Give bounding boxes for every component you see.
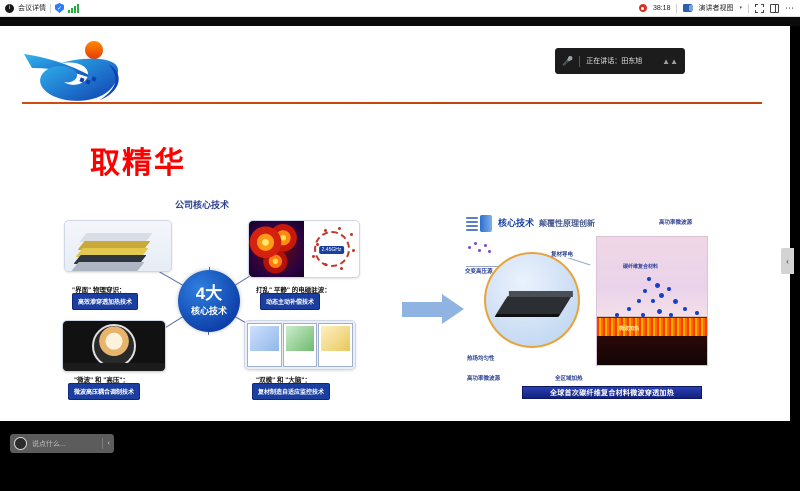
left-diagram-heading: 公司核心技术: [175, 198, 229, 211]
thumbnail-monitor-screens: [244, 320, 356, 370]
divider: [50, 4, 51, 13]
microphone-muted-icon: 🎤: [562, 56, 573, 67]
topbar-shadow-band: [0, 17, 800, 26]
left-diagram: 公司核心技术 4大 核心技术 "界面" 物理穿识： 高效渗穿透加热技术: [60, 198, 390, 413]
divider: [102, 438, 103, 449]
achievement-banner: 全球首次碳纤维复合材料微波穿透加热: [522, 386, 702, 399]
view-mode-label[interactable]: 演讲者视图: [698, 3, 733, 13]
thumbnail-chamber-photo: [62, 320, 166, 372]
recording-dot-icon[interactable]: [639, 4, 647, 12]
window-background: [0, 421, 800, 491]
audio-waveform-icon: ▲▲: [662, 57, 678, 66]
node-button-4[interactable]: 复材制造自适应监控技术: [252, 383, 330, 400]
divider: [748, 4, 749, 13]
more-options-icon[interactable]: ⋯: [785, 3, 794, 14]
collapse-chat-icon[interactable]: ‹: [108, 440, 110, 447]
molecule-icon: [468, 242, 490, 254]
right-label-3: 热场均匀性: [466, 354, 496, 362]
chat-input-bar[interactable]: 说点什么... ‹: [10, 434, 114, 453]
divider: [676, 4, 677, 13]
chat-placeholder[interactable]: 说点什么...: [32, 439, 97, 449]
server-stack-icon: [466, 214, 496, 234]
meeting-info-label[interactable]: 会议详情: [18, 3, 46, 13]
right-label-1: 交变高压源: [464, 267, 494, 275]
signal-bars-icon: [68, 4, 79, 13]
panel-label-material: 碳纤维复合材料: [623, 263, 658, 270]
node-button-2[interactable]: 动态主动补偿技术: [260, 293, 320, 310]
presentation-slide[interactable]: 取精华 公司核心技术 4大 核心技术 "界面" 物理穿识： 高效渗穿透加热技术: [10, 26, 790, 421]
heat-wave-band: [597, 318, 707, 336]
meeting-timer: 38:18: [653, 5, 671, 12]
right-diagram-heading: 核心技术: [498, 216, 534, 229]
right-label-5: 全区域加热: [554, 374, 584, 382]
flow-arrow-icon: [402, 294, 464, 324]
heating-visualization-panel: 碳纤维复合材料 微波加热: [596, 236, 708, 366]
previous-slide-button[interactable]: ‹: [781, 248, 794, 274]
company-swoosh-logo: [22, 34, 142, 106]
right-diagram-subheading: 颠覆性原理创新: [539, 218, 595, 229]
composite-slab: [496, 296, 571, 314]
right-label-source: 高功率微波源: [658, 218, 693, 226]
left-gutter: [0, 26, 10, 421]
node-button-1[interactable]: 高效渗穿透加热技术: [72, 293, 138, 310]
core-label: 核心技术: [191, 304, 227, 317]
frequency-tag: 2.45GHz: [319, 246, 345, 254]
info-icon[interactable]: i: [5, 4, 14, 13]
active-speaker-overlay: 🎤 正在讲话：田东旭 ▲▲: [555, 48, 685, 74]
thumbnail-layered-board: [64, 220, 172, 272]
divider: [579, 56, 580, 67]
node-button-3[interactable]: 微波高压耦合调制技术: [68, 383, 140, 400]
thumbnail-heatmap-simulation: 2.45GHz: [248, 220, 360, 278]
panel-label-heating: 微波加热: [619, 325, 639, 332]
active-speaker-label: 正在讲话：田东旭: [586, 56, 656, 66]
core-tech-circle: 4大 核心技术: [178, 270, 240, 332]
core-count: 4大: [196, 285, 222, 302]
speaker-view-icon[interactable]: [683, 4, 692, 12]
page-title: 取精华: [90, 138, 186, 182]
title-underline: [22, 102, 762, 104]
user-avatar-icon[interactable]: [14, 437, 27, 450]
right-label-4: 高功率微波源: [466, 374, 501, 382]
shield-icon[interactable]: ✓: [55, 3, 64, 13]
split-view-icon[interactable]: [770, 4, 779, 13]
expand-icon[interactable]: [755, 4, 764, 13]
meeting-topbar: i 会议详情 ✓ 38:18 演讲者视图 ▾ ⋯: [0, 0, 800, 17]
chevron-down-icon[interactable]: ▾: [739, 5, 742, 11]
right-diagram: 核心技术 颠覆性原理创新 交变高压源 复材导电 热场均匀性 高功率微波源 全区域…: [462, 214, 712, 399]
